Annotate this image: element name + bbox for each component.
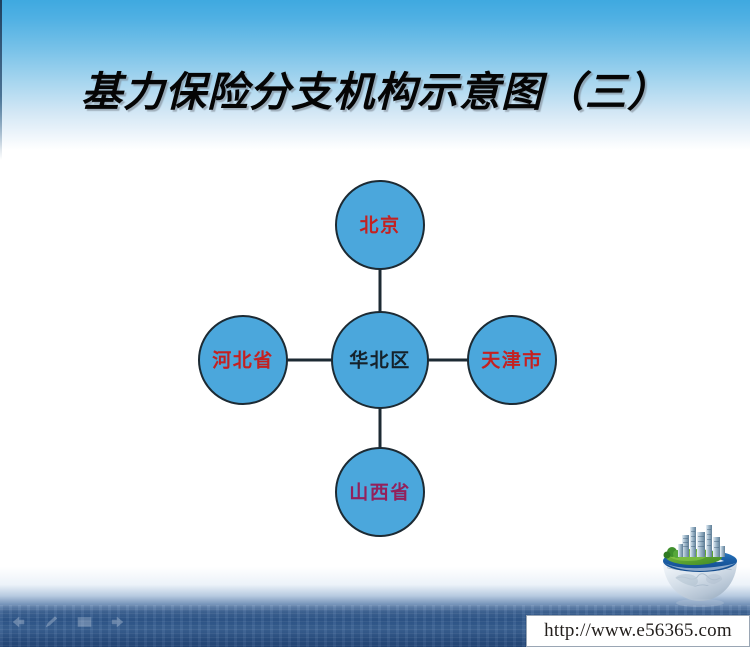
globe-reflection [676, 599, 724, 607]
node-hebei-label: 河北省 [212, 350, 274, 372]
org-chart-diagram: 北京 河北省 天津市 山西省 华北区 [0, 150, 750, 550]
presentation-slide: 基力保险分支机构示意图（三） 北京 河北省 天 [0, 0, 750, 647]
slideshow-navigation-bar[interactable] [10, 615, 126, 629]
next-slide-icon[interactable] [109, 615, 126, 629]
node-beijing-label: 北京 [359, 214, 400, 237]
globe-city-skyline [678, 525, 725, 557]
earth-city-globe-logo [658, 523, 742, 611]
node-center-huabei[interactable]: 华北区 [332, 312, 428, 408]
node-hebei[interactable]: 河北省 [199, 316, 287, 404]
pen-tool-icon[interactable] [43, 615, 60, 629]
node-center-label: 华北区 [349, 349, 411, 372]
node-tianjin-label: 天津市 [481, 349, 543, 372]
slide-menu-icon[interactable] [76, 615, 93, 629]
node-shanxi[interactable]: 山西省 [336, 448, 424, 536]
node-shanxi-label: 山西省 [349, 482, 411, 504]
page-title: 基力保险分支机构示意图（三） [0, 66, 750, 118]
node-beijing[interactable]: 北京 [336, 181, 424, 269]
node-tianjin[interactable]: 天津市 [468, 316, 556, 404]
website-url-text: http://www.e56365.com [544, 620, 732, 642]
website-url-box[interactable]: http://www.e56365.com [526, 615, 750, 647]
previous-slide-icon[interactable] [10, 615, 27, 629]
